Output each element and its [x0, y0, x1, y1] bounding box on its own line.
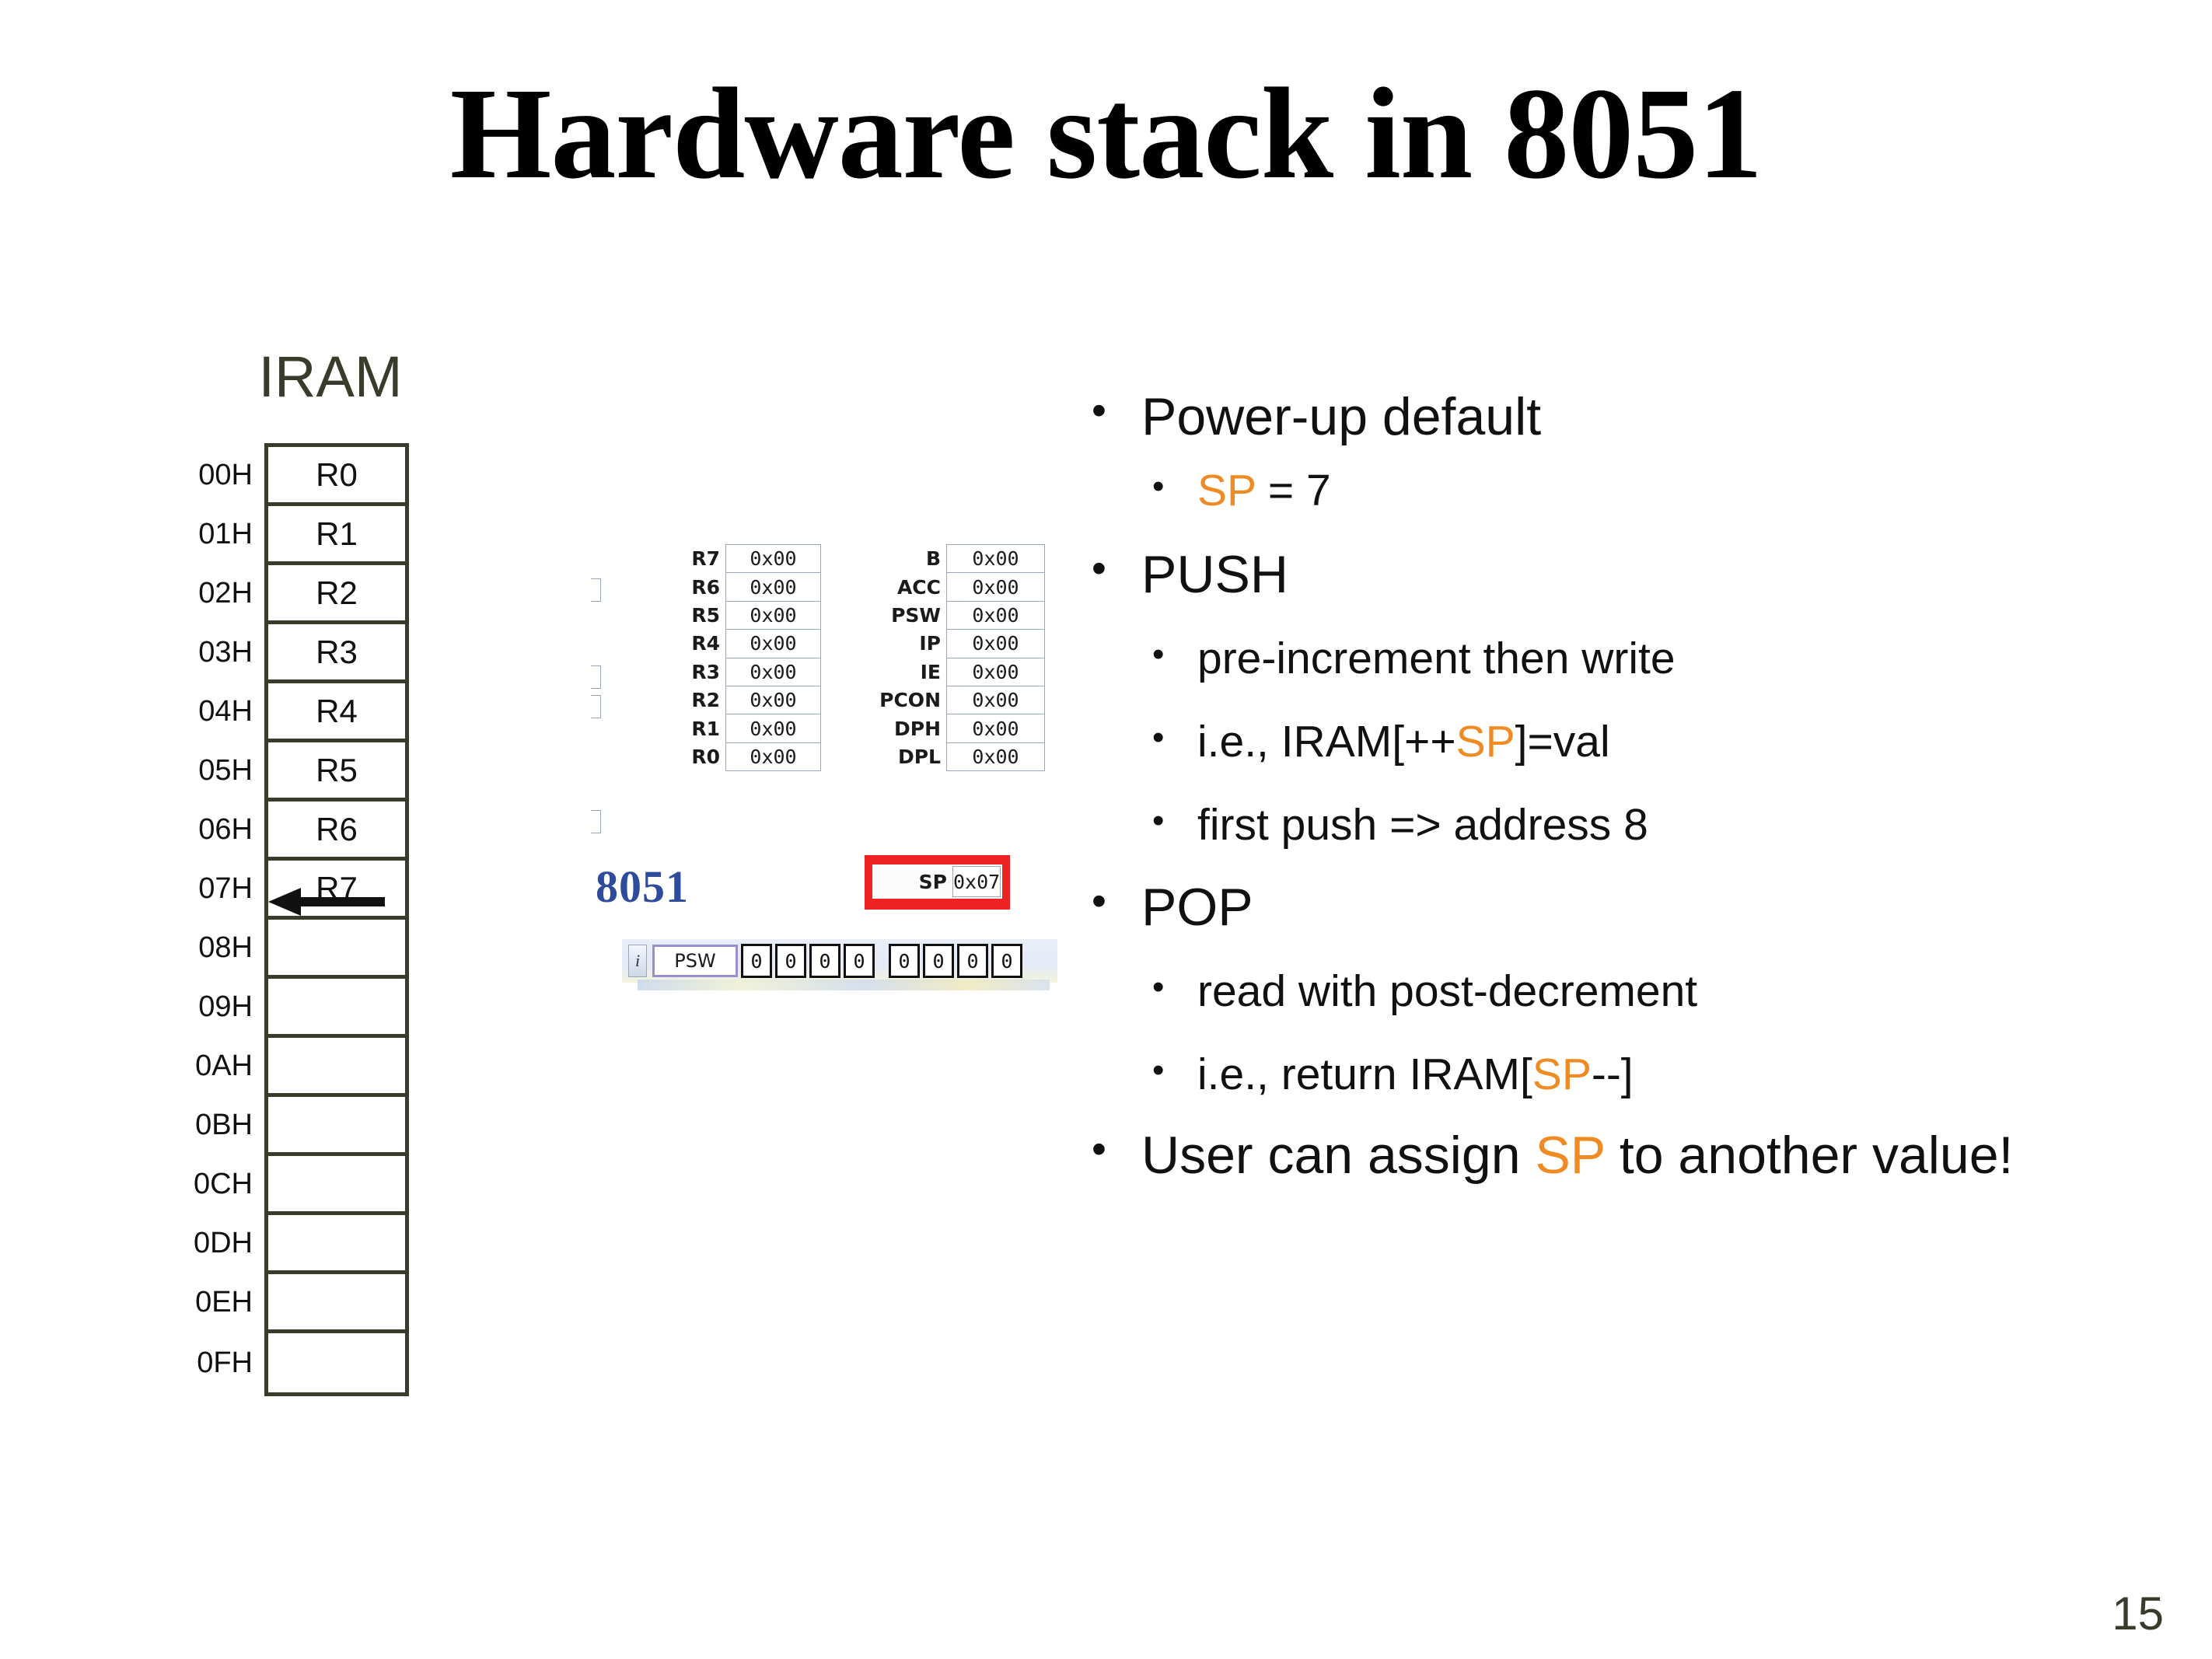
register-row: R10x00	[666, 714, 821, 742]
register-column-left: R70x00R60x00R50x00R40x00R30x00R20x00R10x…	[666, 544, 821, 770]
register-value-input[interactable]: 0x00	[725, 601, 821, 630]
iram-row: 04HR4	[268, 683, 405, 742]
iram-address-label: 08H	[150, 933, 253, 962]
page-number: 15	[2112, 1591, 2164, 1637]
register-row: IP0x00	[866, 629, 1045, 658]
register-row: R60x00	[666, 572, 821, 601]
register-row: R70x00	[666, 544, 821, 573]
info-icon[interactable]: i	[628, 945, 647, 977]
iram-address-label: 0EH	[150, 1287, 253, 1317]
register-name: R4	[666, 629, 725, 658]
iram-address-label: 00H	[150, 460, 253, 490]
bullet-pop-iram-expr: i.e., return IRAM[SP--]	[1081, 1049, 2185, 1101]
register-row: R50x00	[666, 601, 821, 630]
register-name: ACC	[866, 572, 946, 601]
sp-token: SP	[1197, 466, 1256, 515]
iram-cell-value: R4	[316, 695, 358, 728]
bullet-list: Power-up default SP = 7 PUSH pre-increme…	[1081, 386, 2185, 1191]
register-value-input[interactable]: 0x00	[725, 658, 821, 686]
psw-strip-shadow	[638, 980, 1050, 990]
iram-row: 02HR2	[268, 565, 405, 624]
register-name: PCON	[866, 686, 946, 714]
iram-row: 05HR5	[268, 742, 405, 802]
bullet-push: PUSH	[1081, 543, 2185, 606]
register-name: R1	[666, 714, 725, 742]
iram-address-label: 05H	[150, 756, 253, 785]
register-row: R30x00	[666, 658, 821, 686]
bullet-power-up-default: Power-up default	[1081, 386, 2185, 448]
register-value-input[interactable]: 0x00	[946, 601, 1045, 630]
bullet-pop-post-decrement: read with post-decrement	[1081, 966, 2185, 1018]
register-name: IP	[866, 629, 946, 658]
bullet-sp-equals-7: SP = 7	[1081, 465, 2185, 517]
iram-heading: IRAM	[210, 348, 451, 406]
register-row: IE0x00	[866, 658, 1045, 686]
iram-row: 0EH	[268, 1274, 405, 1333]
register-row: R00x00	[666, 742, 821, 771]
register-column-right: B0x00ACC0x00PSW0x00IP0x00IE0x00PCON0x00D…	[866, 544, 1045, 770]
register-value-input[interactable]: 0x00	[725, 686, 821, 714]
assign-prefix: User can assign	[1141, 1126, 1535, 1185]
iram-table: 00HR001HR102HR203HR304HR405HR506HR607HR7…	[264, 443, 409, 1396]
cropped-input-stub	[591, 810, 601, 833]
iram-cell-value: R2	[316, 577, 358, 609]
bullet-push-first-address: first push => address 8	[1081, 799, 2185, 851]
bullet-push-pre-increment: pre-increment then write	[1081, 633, 2185, 685]
iram-address-label: 04H	[150, 697, 253, 726]
psw-strip-label: PSW	[652, 945, 738, 977]
chip-label: 8051	[596, 864, 689, 910]
simulator-register-panel: R70x00R60x00R50x00R40x00R30x00R20x00R10x…	[591, 544, 1065, 1011]
register-row: ACC0x00	[866, 572, 1045, 601]
pop-expr-suffix: --]	[1592, 1050, 1634, 1099]
iram-address-label: 07H	[150, 874, 253, 903]
iram-address-label: 0BH	[150, 1110, 253, 1140]
psw-bit[interactable]: 0	[844, 944, 875, 978]
pop-expr-prefix: i.e., return IRAM[	[1197, 1050, 1532, 1099]
iram-row: 09H	[268, 979, 405, 1038]
sp-equals-rest: = 7	[1256, 466, 1331, 515]
register-row: PCON0x00	[866, 686, 1045, 714]
register-value-input[interactable]: 0x00	[946, 544, 1045, 573]
register-value-input[interactable]: 0x00	[946, 572, 1045, 601]
iram-address-label: 0DH	[150, 1228, 253, 1258]
iram-row: 06HR6	[268, 802, 405, 861]
register-name: B	[866, 544, 946, 573]
register-value-input[interactable]: 0x00	[946, 629, 1045, 658]
register-value-input[interactable]: 0x00	[946, 742, 1045, 771]
bullet-pop: POP	[1081, 876, 2185, 938]
push-expr-suffix: ]=val	[1515, 717, 1610, 767]
iram-row: 0DH	[268, 1215, 405, 1274]
register-name: R6	[666, 572, 725, 601]
register-value-input[interactable]: 0x00	[725, 629, 821, 658]
assign-suffix: to another value!	[1605, 1126, 2013, 1185]
bullet-user-can-assign-sp: User can assign SP to another value!	[1081, 1124, 2185, 1186]
register-name: R0	[666, 742, 725, 771]
sp-register-highlight: SP 0x07	[865, 855, 1010, 910]
psw-bit[interactable]: 0	[957, 944, 988, 978]
iram-address-label: 0AH	[150, 1051, 253, 1081]
register-row: DPH0x00	[866, 714, 1045, 742]
register-value-input[interactable]: 0x00	[725, 714, 821, 742]
iram-row: 01HR1	[268, 506, 405, 565]
iram-cell-value: R6	[316, 813, 358, 846]
iram-row: 08H	[268, 920, 405, 979]
iram-address-label: 09H	[150, 992, 253, 1022]
stack-pointer-arrow-icon	[268, 886, 385, 917]
register-value-input[interactable]: 0x00	[946, 658, 1045, 686]
psw-bit[interactable]: 0	[991, 944, 1022, 978]
register-name: IE	[866, 658, 946, 686]
register-row: B0x00	[866, 544, 1045, 573]
push-expr-prefix: i.e., IRAM[++	[1197, 717, 1456, 767]
register-name: R5	[666, 601, 725, 630]
iram-row: 0CH	[268, 1156, 405, 1215]
register-value-input[interactable]: 0x00	[725, 572, 821, 601]
register-value-input[interactable]: 0x00	[725, 742, 821, 771]
cropped-input-stub	[591, 665, 601, 689]
register-name: R2	[666, 686, 725, 714]
register-name: DPL	[866, 742, 946, 771]
psw-bit[interactable]: 0	[923, 944, 954, 978]
iram-cell-value: R3	[316, 636, 358, 669]
register-row: PSW0x00	[866, 601, 1045, 630]
bullet-push-iram-expr: i.e., IRAM[++SP]=val	[1081, 716, 2185, 768]
psw-bit[interactable]: 0	[775, 944, 806, 978]
iram-address-label: 03H	[150, 637, 253, 667]
psw-bit[interactable]: 0	[809, 944, 840, 978]
sp-register-label: SP	[872, 866, 952, 897]
sp-register-value[interactable]: 0x07	[952, 866, 1001, 897]
iram-row: 03HR3	[268, 624, 405, 683]
psw-bit-strip: i PSW 00000000	[622, 939, 1057, 983]
iram-cell-value: R1	[316, 518, 358, 550]
register-name: R7	[666, 544, 725, 573]
sp-token: SP	[1532, 1050, 1592, 1099]
cropped-input-stub	[591, 578, 601, 602]
register-value-input[interactable]: 0x00	[946, 714, 1045, 742]
register-row: DPL0x00	[866, 742, 1045, 771]
sp-token: SP	[1535, 1126, 1604, 1185]
iram-cell-value: R5	[316, 754, 358, 787]
iram-address-label: 02H	[150, 578, 253, 608]
register-row: R20x00	[666, 686, 821, 714]
cropped-input-stub	[591, 695, 601, 718]
psw-bit[interactable]: 0	[741, 944, 772, 978]
iram-address-label: 0FH	[150, 1348, 253, 1378]
iram-row: 0FH	[268, 1333, 405, 1392]
iram-cell-value: R0	[316, 459, 358, 491]
iram-address-label: 0CH	[150, 1169, 253, 1199]
iram-row: 0BH	[268, 1097, 405, 1156]
register-value-input[interactable]: 0x00	[725, 544, 821, 573]
sp-token: SP	[1456, 717, 1515, 767]
register-name: PSW	[866, 601, 946, 630]
iram-row: 0AH	[268, 1038, 405, 1097]
iram-address-label: 01H	[150, 519, 253, 549]
psw-bit[interactable]: 0	[889, 944, 920, 978]
register-value-input[interactable]: 0x00	[946, 686, 1045, 714]
iram-row: 00HR0	[268, 447, 405, 506]
register-name: R3	[666, 658, 725, 686]
iram-address-label: 06H	[150, 815, 253, 844]
page-title: Hardware stack in 8051	[0, 68, 2212, 199]
register-row: R40x00	[666, 629, 821, 658]
register-name: DPH	[866, 714, 946, 742]
